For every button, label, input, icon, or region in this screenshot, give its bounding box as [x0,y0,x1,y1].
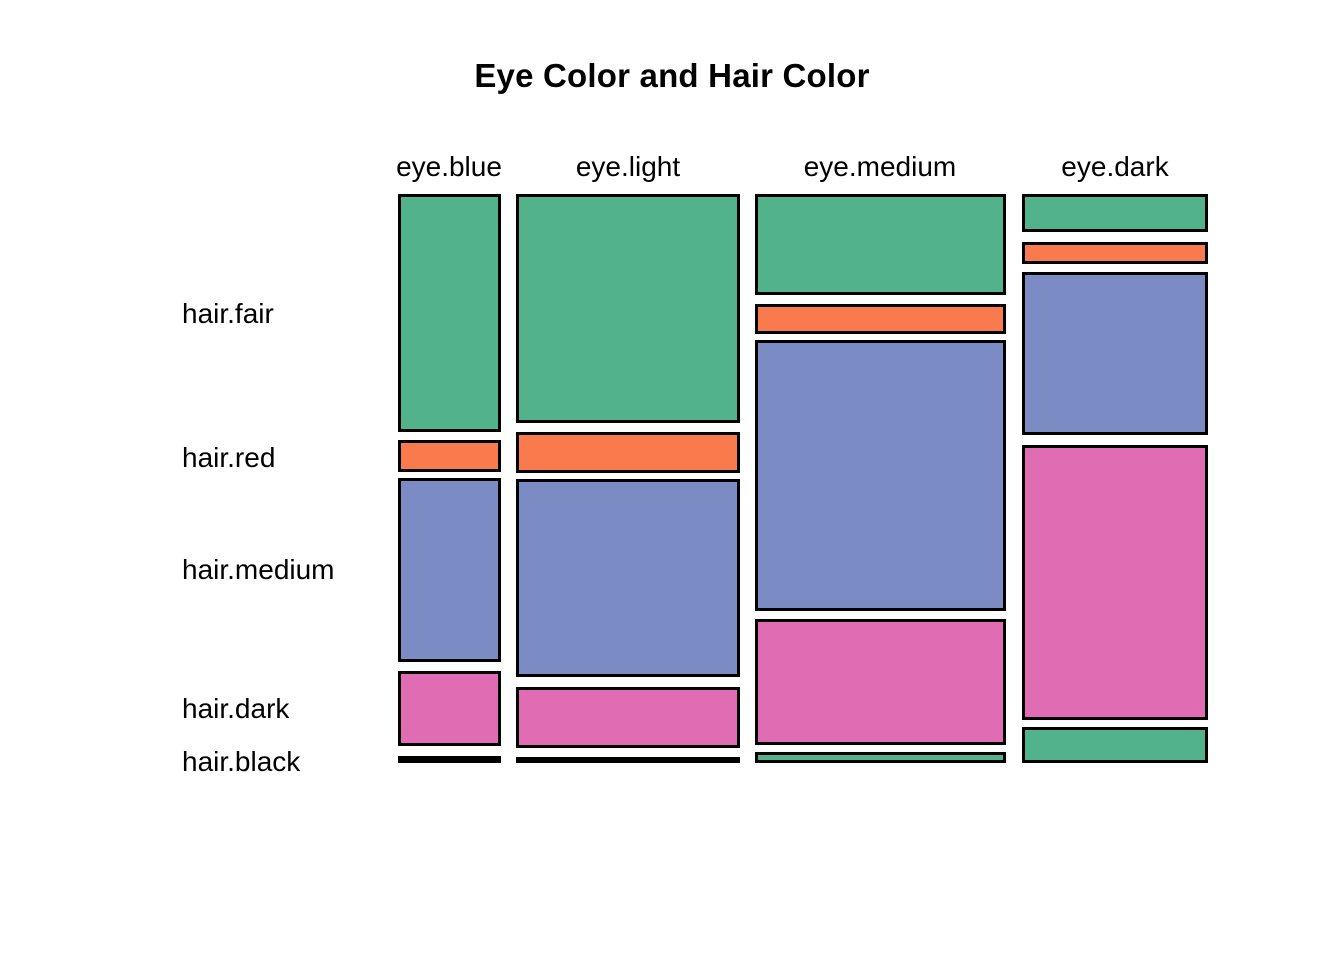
mosaic-tile-eye-medium-hair-black [755,752,1006,763]
mosaic-tile-eye-light-hair-black [516,757,740,763]
mosaic-tile-eye-medium-hair-red [755,304,1006,334]
mosaic-tile-eye-light-hair-dark [516,687,740,748]
mosaic-plot: Eye Color and Hair Color eye.blueeye.lig… [0,0,1344,960]
mosaic-tile-eye-dark-hair-medium [1022,272,1208,435]
row-label-hair-red: hair.red [182,441,275,475]
mosaic-tile-eye-blue-hair-medium [398,478,501,662]
row-label-hair-black: hair.black [182,745,300,779]
row-label-hair-fair: hair.fair [182,297,274,331]
mosaic-tile-eye-light-hair-red [516,432,740,473]
row-label-hair-dark: hair.dark [182,692,289,726]
mosaic-tile-eye-medium-hair-fair [755,194,1006,295]
mosaic-tile-eye-blue-hair-fair [398,194,501,432]
mosaic-tile-eye-medium-hair-medium [755,340,1006,611]
row-label-hair-medium: hair.medium [182,553,335,587]
mosaic-tile-eye-dark-hair-dark [1022,445,1208,720]
mosaic-tile-eye-blue-hair-black [398,756,501,763]
mosaic-tiles [0,0,1344,960]
mosaic-tile-eye-light-hair-medium [516,479,740,677]
mosaic-tile-eye-light-hair-fair [516,194,740,423]
mosaic-tile-eye-blue-hair-red [398,440,501,472]
mosaic-tile-eye-dark-hair-red [1022,242,1208,264]
mosaic-tile-eye-dark-hair-black [1022,727,1208,763]
mosaic-tile-eye-dark-hair-fair [1022,194,1208,232]
mosaic-tile-eye-medium-hair-dark [755,619,1006,745]
mosaic-tile-eye-blue-hair-dark [398,671,501,746]
